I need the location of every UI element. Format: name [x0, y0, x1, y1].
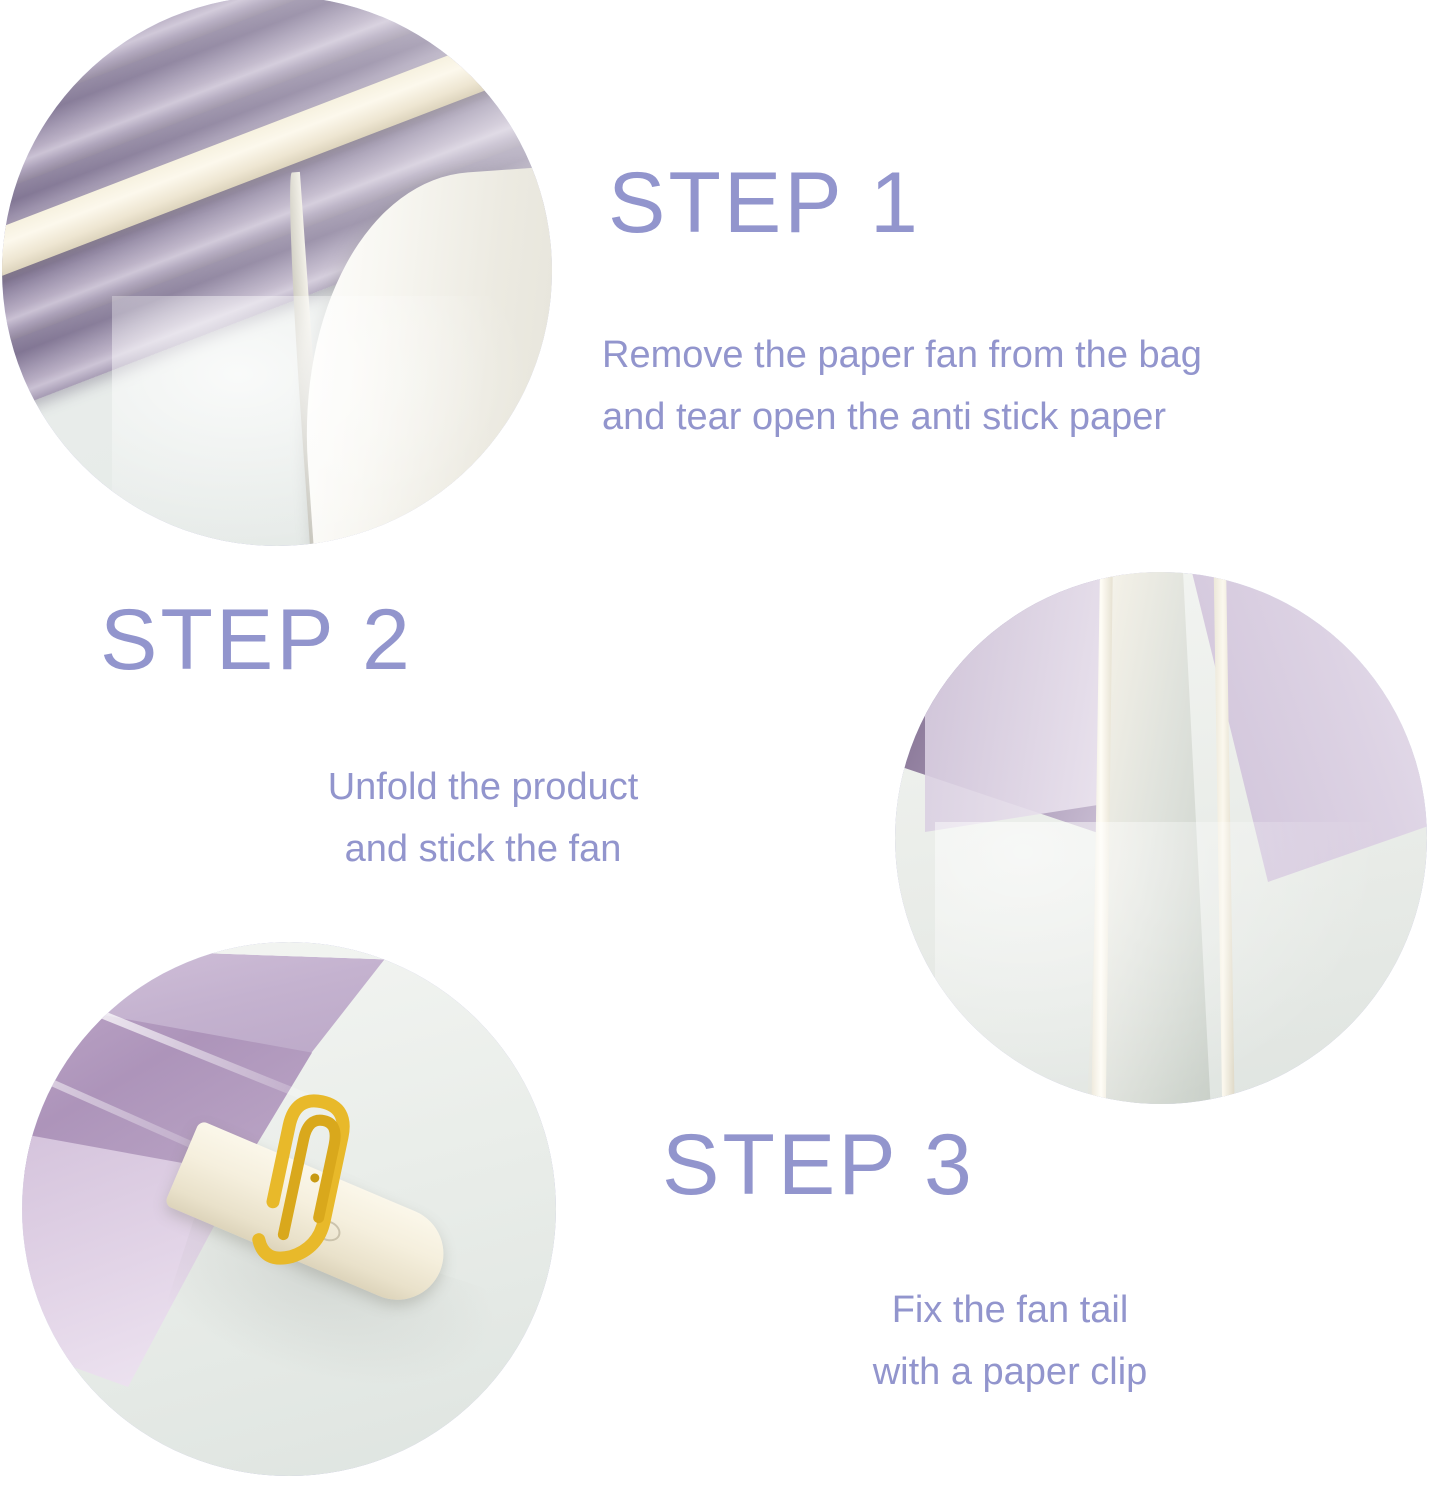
step-3-photo-inner — [22, 942, 556, 1476]
step-1-description: Remove the paper fan from the bag and te… — [602, 325, 1202, 448]
step-2-description-line-2: and stick the fan — [228, 819, 738, 881]
fan-panel-left-inner — [925, 572, 1125, 832]
step-1-photo — [2, 0, 552, 546]
step-3-photo — [22, 942, 556, 1476]
step-1-description-line-1: Remove the paper fan from the bag — [602, 325, 1202, 387]
step-1-photo-inner — [2, 0, 552, 546]
step-3-description: Fix the fan tail with a paper clip — [775, 1280, 1245, 1403]
step-2-photo-inner — [895, 572, 1427, 1104]
step-1-title: STEP 1 — [608, 160, 921, 246]
paper-clip-joint — [310, 1173, 321, 1184]
photo-sheen — [935, 822, 1375, 1104]
step-2-description: Unfold the product and stick the fan — [228, 757, 738, 880]
step-2-photo — [895, 572, 1427, 1104]
photo-sheen — [112, 296, 532, 546]
step-2-title: STEP 2 — [100, 597, 413, 683]
step-2-description-line-1: Unfold the product — [228, 757, 738, 819]
step-3-description-line-1: Fix the fan tail — [775, 1280, 1245, 1342]
step-3-description-line-2: with a paper clip — [775, 1342, 1245, 1404]
step-1-description-line-2: and tear open the anti stick paper — [602, 387, 1202, 449]
instruction-infographic: STEP 1 Remove the paper fan from the bag… — [0, 0, 1445, 1486]
step-3-title: STEP 3 — [662, 1122, 975, 1208]
